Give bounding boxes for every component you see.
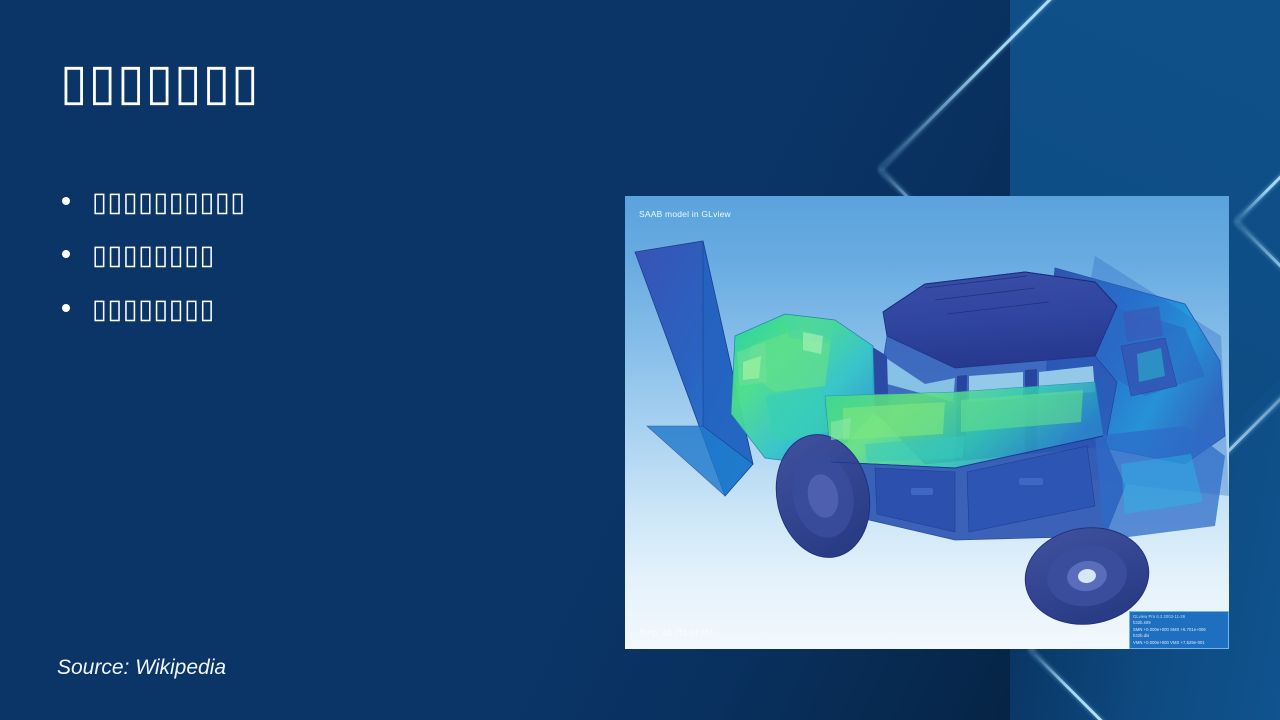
bullet-dot-icon <box>62 197 70 205</box>
source-credit: Source: Wikipedia <box>57 656 226 680</box>
fea-car-illustration <box>625 196 1229 649</box>
figure-legend-box: GLview Pro 6.3 2003-11-26 h32b.s09 SMN +… <box>1129 611 1229 650</box>
bullet-list: ▯▯▯▯▯▯▯▯▯▯ ▯▯▯▯▯▯▯▯ ▯▯▯▯▯▯▯▯ <box>56 186 576 346</box>
figure-step-label: Step: 31 (31 of 35) <box>639 627 713 637</box>
fea-simulation-image: SAAB model in GLview Step: 31 (31 of 35)… <box>625 196 1229 649</box>
bullet-dot-icon <box>62 304 70 312</box>
bullet-label: ▯▯▯▯▯▯▯▯ <box>92 293 215 325</box>
bullet-label: ▯▯▯▯▯▯▯▯ <box>92 239 215 271</box>
figure-caption: SAAB model in GLview <box>639 209 731 219</box>
bullet-dot-icon <box>62 250 70 258</box>
bullet-label: ▯▯▯▯▯▯▯▯▯▯ <box>92 186 246 218</box>
slide-title: ▯▯▯▯▯▯▯ <box>60 55 260 110</box>
bullet-item: ▯▯▯▯▯▯▯▯ <box>56 239 576 271</box>
bullet-item: ▯▯▯▯▯▯▯▯▯▯ <box>56 186 576 218</box>
legend-line: VMN +0.000e+000 VMX +7.529e-001 <box>1133 640 1225 647</box>
bullet-item: ▯▯▯▯▯▯▯▯ <box>56 293 576 325</box>
presentation-slide: ▯▯▯▯▯▯▯ ▯▯▯▯▯▯▯▯▯▯ ▯▯▯▯▯▯▯▯ ▯▯▯▯▯▯▯▯ Sou… <box>0 0 1280 720</box>
